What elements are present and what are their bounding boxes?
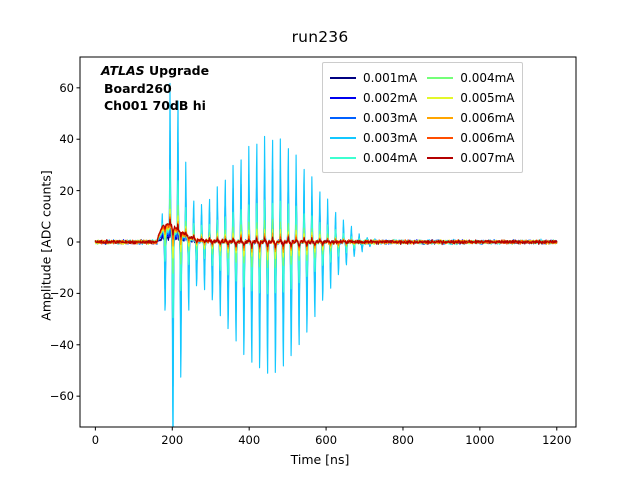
x-tick-label: 1000 [465, 433, 494, 447]
plot-area [0, 0, 640, 480]
legend-color-swatch [330, 157, 356, 159]
y-tick-label: 60 [36, 81, 74, 95]
legend-entry[interactable]: 0.006mA [427, 108, 514, 127]
y-tick-label: 0 [36, 235, 74, 249]
figure-canvas: run236 Time [ns] Amplitude [ADC counts] … [0, 0, 640, 480]
chart-title: run236 [0, 28, 640, 46]
legend-grid: 0.001mA0.004mA0.002mA0.005mA0.003mA0.006… [330, 68, 515, 167]
legend-label: 0.005mA [460, 91, 514, 105]
legend-label: 0.007mA [460, 151, 514, 165]
legend-color-swatch [427, 137, 453, 139]
annotation-line-1: ATLAS Upgrade [101, 62, 209, 80]
x-tick-label: 400 [238, 433, 260, 447]
legend-entry[interactable]: 0.001mA [330, 68, 417, 87]
legend-entry[interactable]: 0.002mA [330, 88, 417, 107]
y-tick-label: −20 [36, 286, 74, 300]
legend-label: 0.003mA [363, 131, 417, 145]
legend-color-swatch [330, 117, 356, 119]
legend-color-swatch [330, 77, 356, 79]
legend-color-swatch [330, 137, 356, 139]
legend-color-swatch [427, 77, 453, 79]
annotation-line-2: Board260 [101, 80, 209, 98]
y-tick-label: 20 [36, 184, 74, 198]
legend-color-swatch [330, 97, 356, 99]
legend-entry[interactable]: 0.007mA [427, 148, 514, 167]
legend-entry[interactable]: 0.005mA [427, 88, 514, 107]
legend-entry[interactable]: 0.003mA [330, 108, 417, 127]
legend-box: 0.001mA0.004mA0.002mA0.005mA0.003mA0.006… [322, 62, 523, 173]
upgrade-label: Upgrade [145, 63, 209, 78]
legend-entry[interactable]: 0.004mA [330, 148, 417, 167]
legend-color-swatch [427, 97, 453, 99]
legend-color-swatch [427, 117, 453, 119]
annotation-line-3: Ch001 70dB hi [101, 97, 209, 115]
legend-label: 0.002mA [363, 91, 417, 105]
x-tick-label: 600 [315, 433, 337, 447]
y-tick-label: 40 [36, 132, 74, 146]
legend-entry[interactable]: 0.004mA [427, 68, 514, 87]
legend-label: 0.006mA [460, 111, 514, 125]
legend-label: 0.001mA [363, 71, 417, 85]
legend-entry[interactable]: 0.003mA [330, 128, 417, 147]
x-tick-label: 0 [92, 433, 99, 447]
legend-label: 0.004mA [363, 151, 417, 165]
x-axis-label: Time [ns] [0, 452, 640, 467]
legend-entry[interactable]: 0.006mA [427, 128, 514, 147]
x-tick-label: 1200 [542, 433, 571, 447]
legend-label: 0.006mA [460, 131, 514, 145]
legend-label: 0.003mA [363, 111, 417, 125]
atlas-label: ATLAS [101, 63, 145, 78]
x-tick-label: 200 [161, 433, 183, 447]
legend-color-swatch [427, 157, 453, 159]
atlas-annotation: ATLAS Upgrade Board260 Ch001 70dB hi [101, 62, 209, 115]
x-tick-label: 800 [392, 433, 414, 447]
y-tick-label: −40 [36, 338, 74, 352]
legend-label: 0.004mA [460, 71, 514, 85]
y-tick-label: −60 [36, 389, 74, 403]
